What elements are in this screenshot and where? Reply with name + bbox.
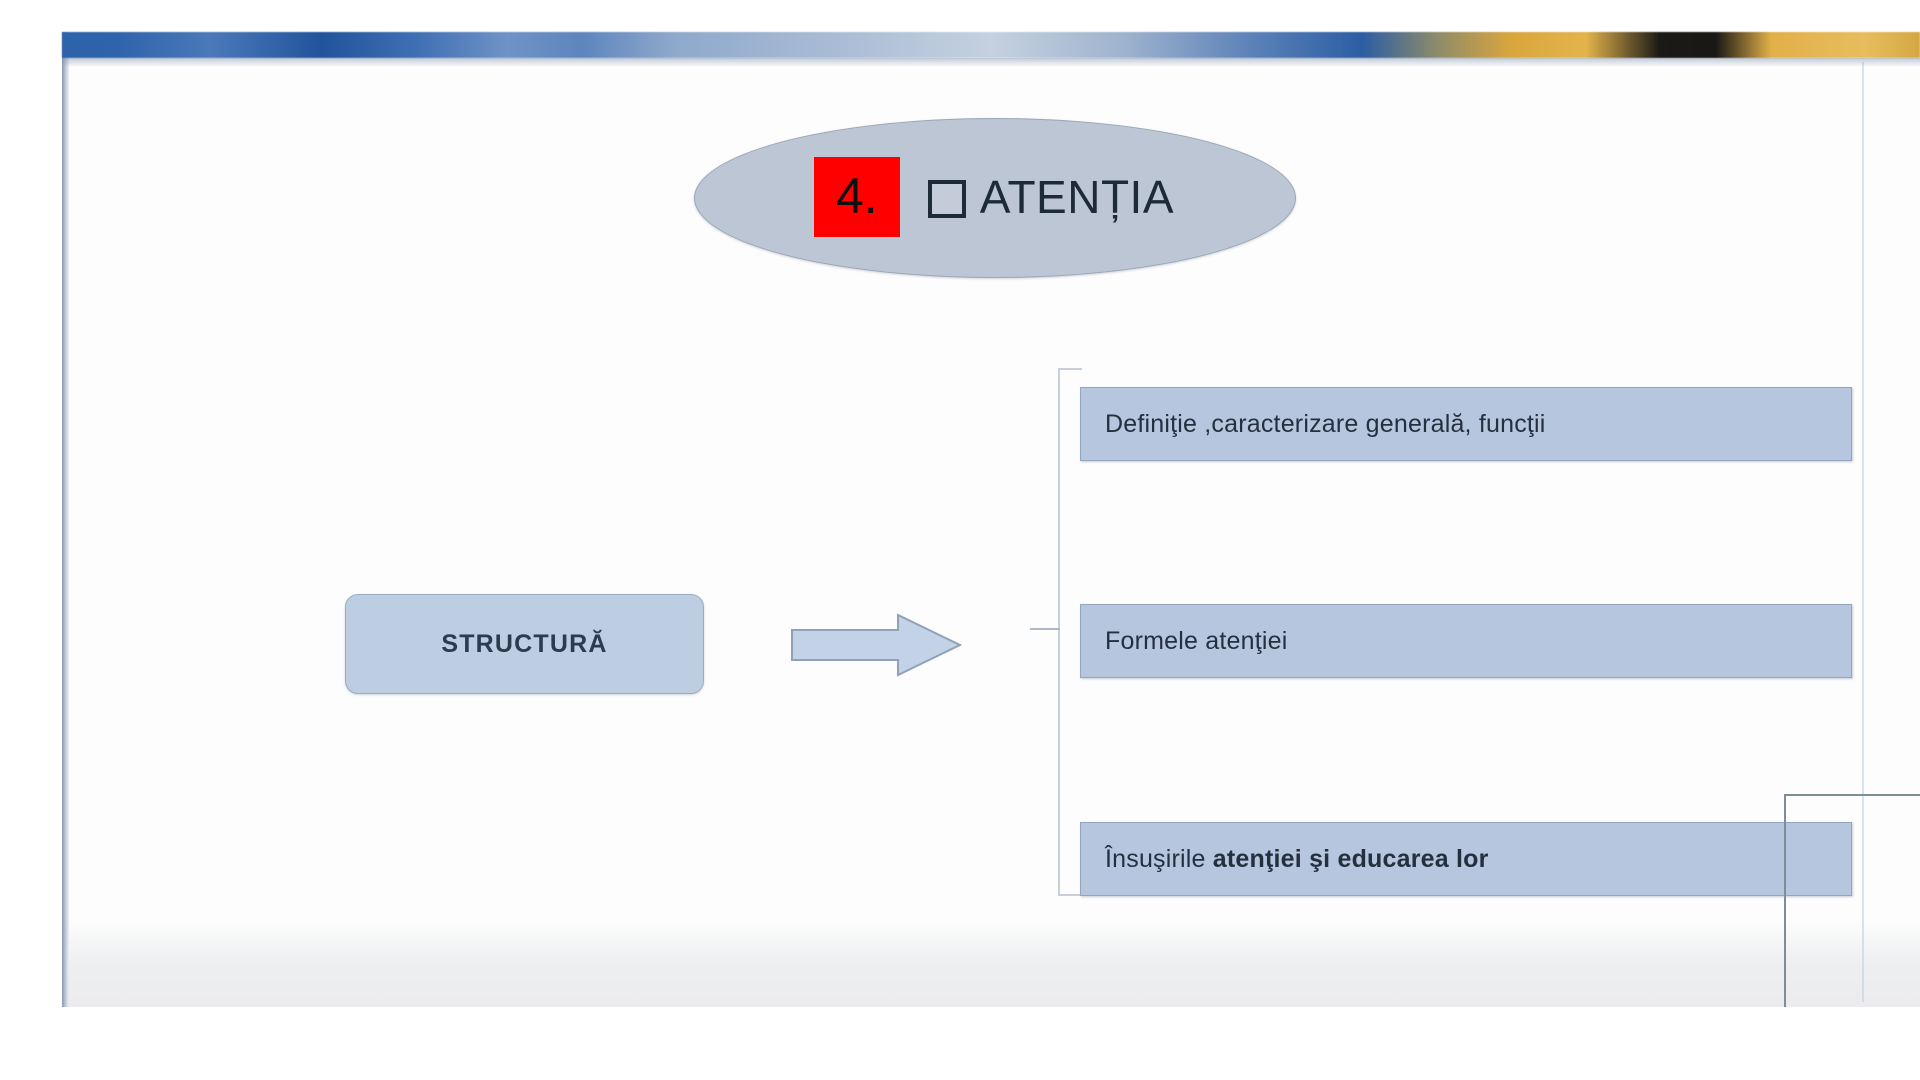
slide-top-ribbon-shadow [62,58,1920,67]
branch-box-formele: Formele atenţiei [1080,604,1852,678]
title-number-highlight: 4. [814,157,900,237]
stray-outline-rectangle [1784,794,1920,1007]
right-block-arrow-icon [790,612,962,678]
structura-label: STRUCTURĂ [441,630,607,659]
branch-label-insusirile-regular: Însuşirile [1105,845,1213,873]
slide-bottom-band [62,919,1920,1007]
hollow-square-bullet-icon [928,180,966,218]
branch-label-insusirile: Însuşirile atenţiei şi educarea lor [1081,845,1489,874]
slide-left-edge [62,32,69,1007]
slide-top-ribbon [62,32,1920,58]
branch-box-insusirile: Însuşirile atenţiei şi educarea lor [1080,822,1852,896]
branch-label-insusirile-bold: atenţiei şi educarea lor [1213,845,1489,873]
branch-bracket-stub [1030,628,1060,630]
presentation-slide: 4. ATENȚIA STRUCTURĂ Definiţie ,caracter… [62,32,1920,1007]
title-text-group: ATENȚIA [928,170,1174,224]
screenshot-canvas: 4. ATENȚIA STRUCTURĂ Definiţie ,caracter… [0,0,1920,1080]
slide-title: 4. ATENȚIA [694,118,1294,276]
branch-box-definitie: Definiţie ,caracterizare generală, funcţ… [1080,387,1852,461]
branch-label-formele: Formele atenţiei [1081,627,1287,656]
branch-bracket [1058,368,1082,896]
title-label: ATENȚIA [980,170,1174,224]
structura-node: STRUCTURĂ [345,594,704,694]
branch-label-definitie: Definiţie ,caracterizare generală, funcţ… [1081,410,1546,439]
